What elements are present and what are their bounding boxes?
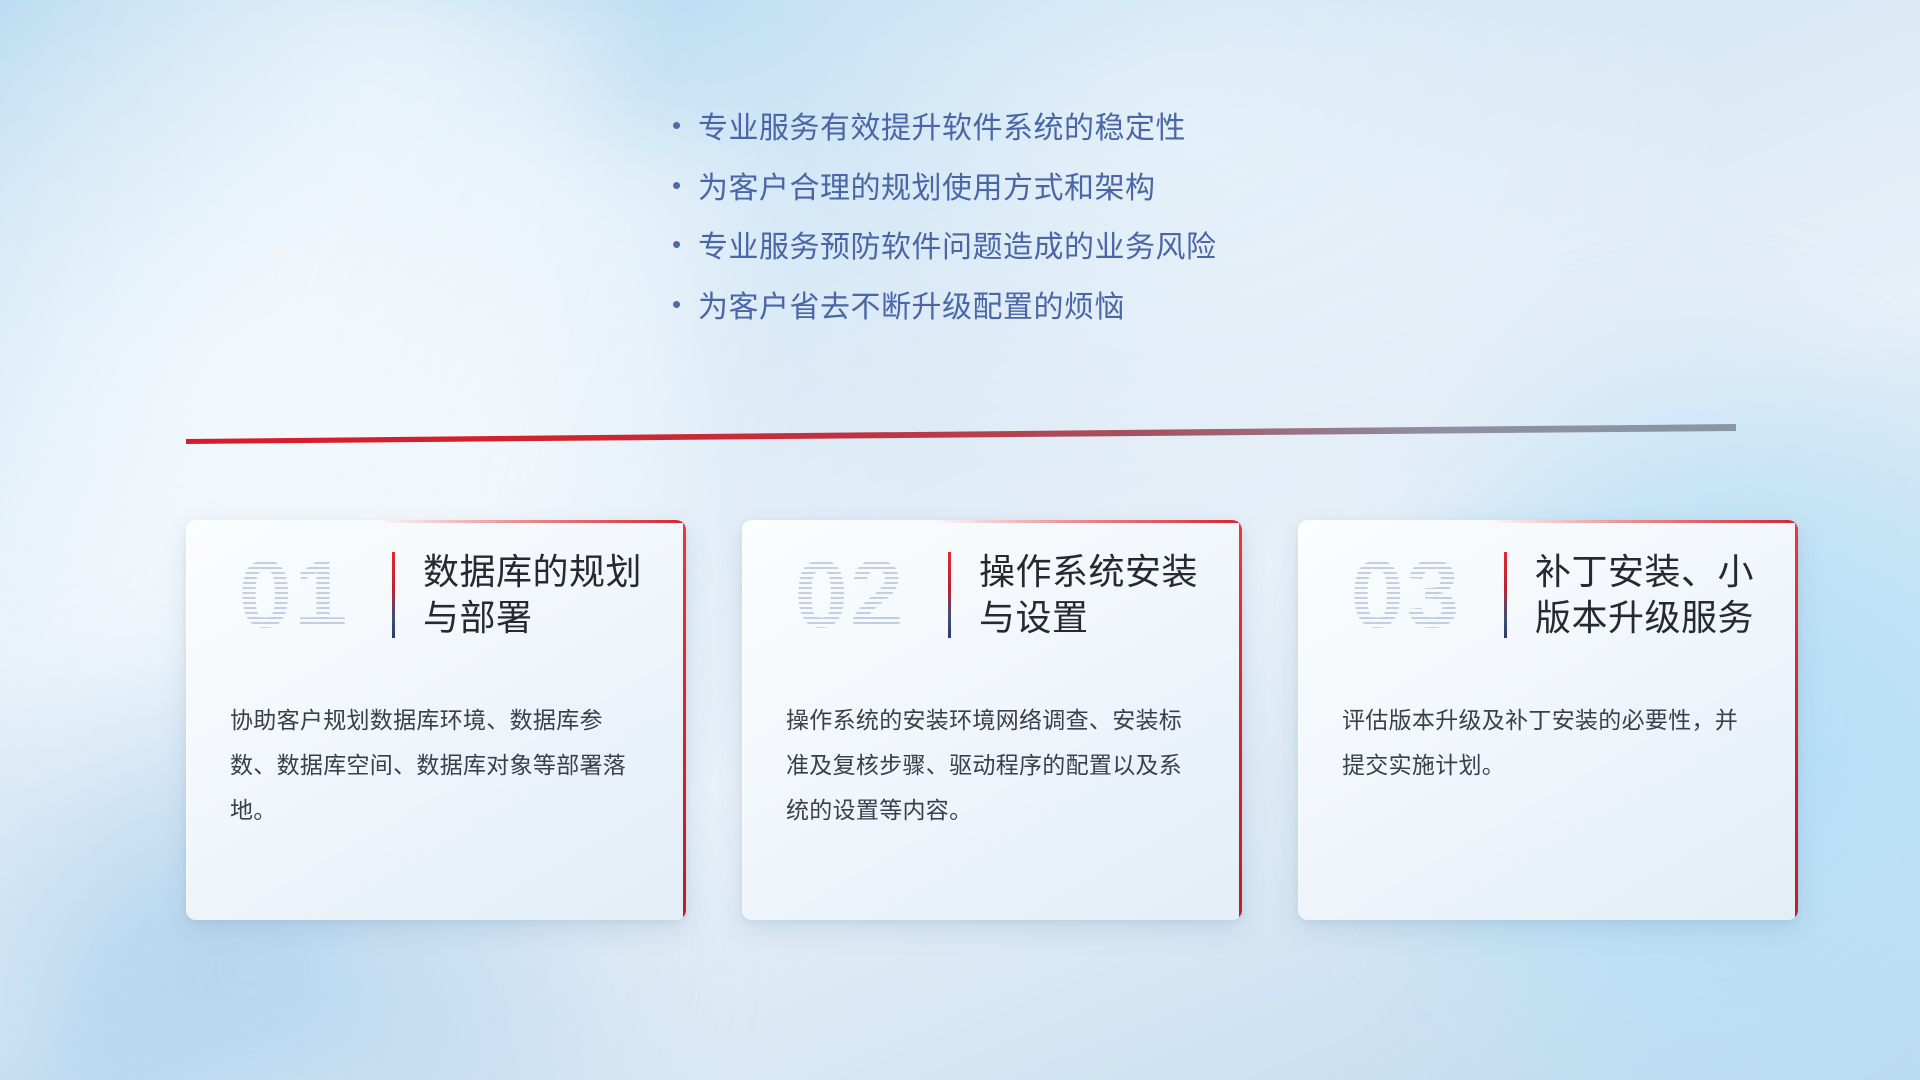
list-item: 专业服务有效提升软件系统的稳定性: [672, 110, 1217, 148]
service-card[interactable]: 03 补丁安装、小版本升级服务 评估版本升级及补丁安装的必要性，并提交实施计划。: [1298, 520, 1798, 920]
card-title: 补丁安装、小版本升级服务: [1535, 549, 1772, 641]
bullet-dot-icon: [672, 291, 698, 317]
slide-root: 专业服务有效提升软件系统的稳定性 为客户合理的规划使用方式和架构 专业服务预防软…: [0, 0, 1920, 1080]
service-card[interactable]: 01 数据库的规划与部署 协助客户规划数据库环境、数据库参数、数据库空间、数据库…: [186, 520, 686, 920]
card-divider-rule: [392, 552, 395, 638]
card-title: 数据库的规划与部署: [423, 549, 660, 641]
bullet-text: 专业服务有效提升软件系统的稳定性: [698, 110, 1186, 148]
bullet-text: 专业服务预防软件问题造成的业务风险: [698, 229, 1217, 267]
benefits-bullet-list: 专业服务有效提升软件系统的稳定性 为客户合理的规划使用方式和架构 专业服务预防软…: [672, 110, 1217, 348]
card-divider-rule: [948, 552, 951, 638]
card-title: 操作系统安装与设置: [979, 549, 1216, 641]
card-number: 01: [196, 547, 392, 643]
card-header: 01 数据库的规划与部署: [186, 520, 686, 670]
bullet-dot-icon: [672, 112, 698, 138]
list-item: 专业服务预防软件问题造成的业务风险: [672, 229, 1217, 267]
card-description: 协助客户规划数据库环境、数据库参数、数据库空间、数据库对象等部署落地。: [186, 670, 686, 833]
list-item: 为客户合理的规划使用方式和架构: [672, 170, 1217, 208]
red-gradient-divider: [186, 424, 1736, 446]
card-divider-rule: [1504, 552, 1507, 638]
bullet-dot-icon: [672, 231, 698, 257]
list-item: 为客户省去不断升级配置的烦恼: [672, 289, 1217, 327]
card-description: 操作系统的安装环境网络调查、安装标准及复核步骤、驱动程序的配置以及系统的设置等内…: [742, 670, 1242, 833]
service-card[interactable]: 02 操作系统安装与设置 操作系统的安装环境网络调查、安装标准及复核步骤、驱动程…: [742, 520, 1242, 920]
card-description: 评估版本升级及补丁安装的必要性，并提交实施计划。: [1298, 670, 1798, 788]
bullet-dot-icon: [672, 172, 698, 198]
service-cards-row: 01 数据库的规划与部署 协助客户规划数据库环境、数据库参数、数据库空间、数据库…: [186, 520, 1801, 920]
card-number: 03: [1308, 547, 1504, 643]
card-header: 03 补丁安装、小版本升级服务: [1298, 520, 1798, 670]
card-header: 02 操作系统安装与设置: [742, 520, 1242, 670]
bullet-text: 为客户合理的规划使用方式和架构: [698, 170, 1156, 208]
bullet-text: 为客户省去不断升级配置的烦恼: [698, 289, 1125, 327]
card-number: 02: [752, 547, 948, 643]
